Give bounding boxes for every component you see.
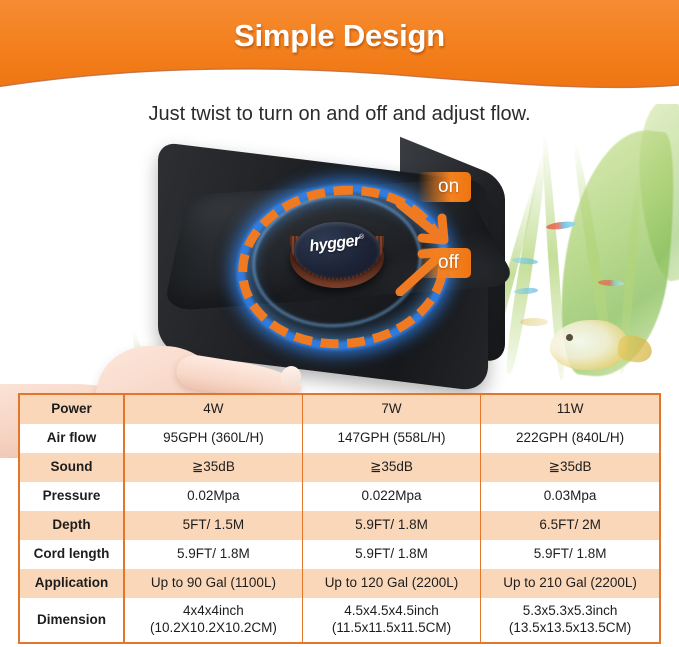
table-row-power: Power 4W 7W 11W — [20, 395, 659, 424]
table-row-pressure: Pressure 0.02Mpa 0.022Mpa 0.03Mpa — [20, 482, 659, 511]
cell-sound-7w: ≧35dB — [302, 453, 480, 482]
row-label-application: Application — [20, 569, 124, 598]
cell-airflow-4w: 95GPH (360L/H) — [124, 424, 302, 453]
cell-depth-4w: 5FT/ 1.5M — [124, 511, 302, 540]
table-row-dimension: Dimension 4x4x4inch (10.2X10.2X10.2CM) 4… — [20, 598, 659, 642]
dimension-7w-inch: 4.5x4.5x4.5inch — [305, 603, 478, 620]
badge-off: off — [418, 248, 471, 278]
cell-dimension-11w: 5.3x5.3x5.3inch (13.5x13.5x13.5CM) — [481, 598, 659, 642]
dimension-7w-cm: (11.5x11.5x11.5CM) — [305, 620, 478, 637]
cell-power-7w: 7W — [302, 395, 480, 424]
cell-sound-11w: ≧35dB — [481, 453, 659, 482]
cell-power-11w: 11W — [481, 395, 659, 424]
specification-table: Power 4W 7W 11W Air flow 95GPH (360L/H) … — [18, 393, 661, 644]
badge-on: on — [418, 172, 471, 202]
row-label-pressure: Pressure — [20, 482, 124, 511]
dimension-4w-inch: 4x4x4inch — [127, 603, 300, 620]
table-row-cord-length: Cord length 5.9FT/ 1.8M 5.9FT/ 1.8M 5.9F… — [20, 540, 659, 569]
cell-application-4w: Up to 90 Gal (1100L) — [124, 569, 302, 598]
cell-pressure-4w: 0.02Mpa — [124, 482, 302, 511]
cell-depth-11w: 6.5FT/ 2M — [481, 511, 659, 540]
rotation-arrows-icon — [392, 196, 478, 296]
cell-depth-7w: 5.9FT/ 1.8M — [302, 511, 480, 540]
product-scene: hygger® on off — [0, 140, 679, 390]
cell-application-7w: Up to 120 Gal (2200L) — [302, 569, 480, 598]
cell-pressure-7w: 0.022Mpa — [302, 482, 480, 511]
subtitle-text: Just twist to turn on and off and adjust… — [0, 103, 679, 126]
spec-table: Power 4W 7W 11W Air flow 95GPH (360L/H) … — [20, 395, 659, 642]
dimension-11w-inch: 5.3x5.3x5.3inch — [483, 603, 657, 620]
cell-cord-11w: 5.9FT/ 1.8M — [481, 540, 659, 569]
registered-trademark-icon: ® — [359, 233, 364, 241]
page-title: Simple Design — [0, 18, 679, 54]
row-label-power: Power — [20, 395, 124, 424]
product-infographic: Simple Design Just twist to turn on and … — [0, 0, 679, 647]
cell-dimension-4w: 4x4x4inch (10.2X10.2X10.2CM) — [124, 598, 302, 642]
row-label-air-flow: Air flow — [20, 424, 124, 453]
cell-pressure-11w: 0.03Mpa — [481, 482, 659, 511]
row-label-cord-length: Cord length — [20, 540, 124, 569]
cell-sound-4w: ≧35dB — [124, 453, 302, 482]
cell-airflow-11w: 222GPH (840L/H) — [481, 424, 659, 453]
table-row-depth: Depth 5FT/ 1.5M 5.9FT/ 1.8M 6.5FT/ 2M — [20, 511, 659, 540]
dimension-4w-cm: (10.2X10.2X10.2CM) — [127, 620, 300, 637]
cell-airflow-7w: 147GPH (558L/H) — [302, 424, 480, 453]
cell-cord-4w: 5.9FT/ 1.8M — [124, 540, 302, 569]
dimension-11w-cm: (13.5x13.5x13.5CM) — [483, 620, 657, 637]
spec-table-body: Power 4W 7W 11W Air flow 95GPH (360L/H) … — [20, 395, 659, 642]
row-label-dimension: Dimension — [20, 598, 124, 642]
cell-dimension-7w: 4.5x4.5x4.5inch (11.5x11.5x11.5CM) — [302, 598, 480, 642]
table-row-application: Application Up to 90 Gal (1100L) Up to 1… — [20, 569, 659, 598]
table-row-air-flow: Air flow 95GPH (360L/H) 147GPH (558L/H) … — [20, 424, 659, 453]
table-row-sound: Sound ≧35dB ≧35dB ≧35dB — [20, 453, 659, 482]
cell-power-4w: 4W — [124, 395, 302, 424]
header-wave-divider — [0, 62, 679, 104]
cell-cord-7w: 5.9FT/ 1.8M — [302, 540, 480, 569]
cell-application-11w: Up to 210 Gal (2200L) — [481, 569, 659, 598]
row-label-sound: Sound — [20, 453, 124, 482]
row-label-depth: Depth — [20, 511, 124, 540]
